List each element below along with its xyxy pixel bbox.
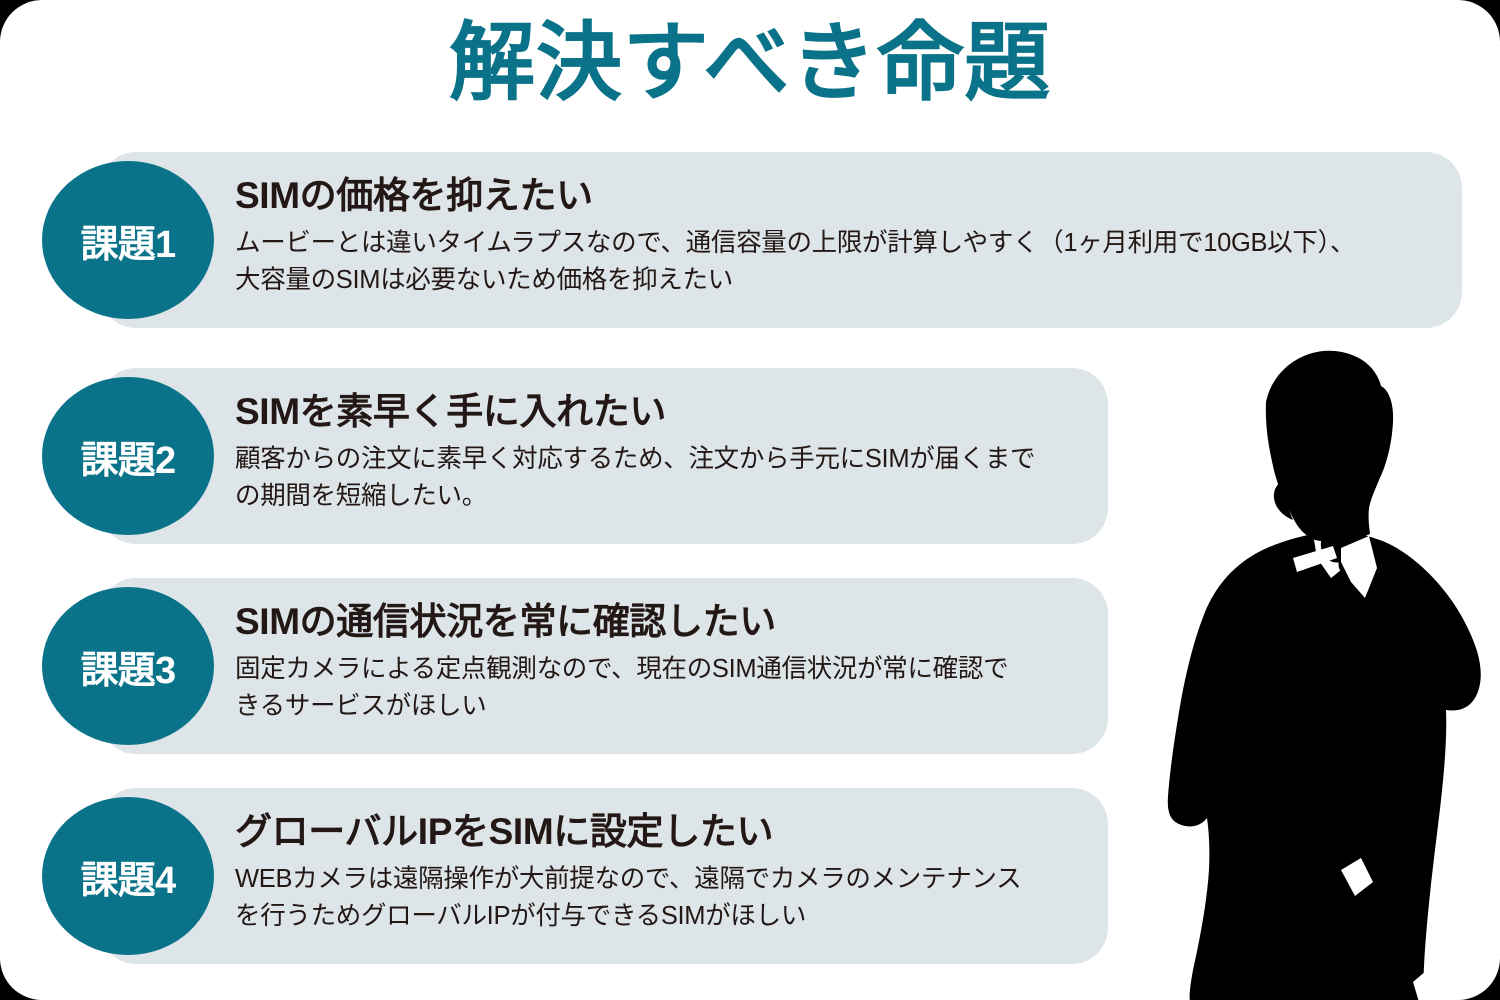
issue-card-2: SIMを素早く手に入れたい 顧客からの注文に素早く対応するため、注文から手元にS… [100, 368, 1108, 544]
issue-card-3-body-line-2: きるサービスがほしい [235, 688, 1090, 724]
infographic-page: 解決すべき命題 SIMの価格を抑えたい ムービーとは違いタイムラプスなので、通信… [0, 0, 1500, 1000]
issue-card-1-text: SIMの価格を抑えたい ムービーとは違いタイムラプスなので、通信容量の上限が計算… [235, 172, 1444, 298]
businessman-thinking-silhouette-icon [1165, 330, 1500, 1000]
issue-card-3-body: 固定カメラによる定点観測なので、現在のSIM通信状況が常に確認で きるサービスが… [235, 651, 1090, 723]
issue-card-2-heading: SIMを素早く手に入れたい [235, 388, 1090, 435]
issue-badge-1: 課題1 [42, 161, 214, 319]
issue-card-2-body-line-2: の期間を短縮したい。 [235, 478, 1090, 514]
issue-card-2-body-line-1: 顧客からの注文に素早く対応するため、注文から手元にSIMが届くまで [235, 441, 1090, 477]
issue-badge-2: 課題2 [42, 377, 214, 535]
issue-card-3-heading: SIMの通信状況を常に確認したい [235, 598, 1090, 645]
issue-card-2-text: SIMを素早く手に入れたい 顧客からの注文に素早く対応するため、注文から手元にS… [235, 388, 1090, 514]
issue-card-4-body-line-1: WEBカメラは遠隔操作が大前提なので、遠隔でカメラのメンテナンス [235, 861, 1090, 897]
issue-card-3-body-line-1: 固定カメラによる定点観測なので、現在のSIM通信状況が常に確認で [235, 651, 1090, 687]
issue-card-2-body: 顧客からの注文に素早く対応するため、注文から手元にSIMが届くまで の期間を短縮… [235, 441, 1090, 513]
issue-card-4: グローバルIPをSIMに設定したい WEBカメラは遠隔操作が大前提なので、遠隔で… [100, 788, 1108, 964]
issue-card-1-body-line-1: ムービーとは違いタイムラプスなので、通信容量の上限が計算しやすく（1ヶ月利用で1… [235, 225, 1444, 261]
page-title: 解決すべき命題 [0, 14, 1500, 113]
issue-card-1-heading: SIMの価格を抑えたい [235, 172, 1444, 219]
issue-card-1-body: ムービーとは違いタイムラプスなので、通信容量の上限が計算しやすく（1ヶ月利用で1… [235, 225, 1444, 297]
issue-card-4-heading: グローバルIPをSIMに設定したい [235, 808, 1090, 855]
issue-badge-3: 課題3 [42, 587, 214, 745]
issue-card-4-text: グローバルIPをSIMに設定したい WEBカメラは遠隔操作が大前提なので、遠隔で… [235, 808, 1090, 934]
issue-badge-4: 課題4 [42, 797, 214, 955]
issue-card-3: SIMの通信状況を常に確認したい 固定カメラによる定点観測なので、現在のSIM通… [100, 578, 1108, 754]
issue-card-1-body-line-2: 大容量のSIMは必要ないため価格を抑えたい [235, 262, 1444, 298]
issue-card-3-text: SIMの通信状況を常に確認したい 固定カメラによる定点観測なので、現在のSIM通… [235, 598, 1090, 724]
issue-card-4-body-line-2: を行うためグローバルIPが付与できるSIMがほしい [235, 898, 1090, 934]
issue-card-1: SIMの価格を抑えたい ムービーとは違いタイムラプスなので、通信容量の上限が計算… [100, 152, 1462, 328]
issue-card-4-body: WEBカメラは遠隔操作が大前提なので、遠隔でカメラのメンテナンス を行うためグロ… [235, 861, 1090, 933]
